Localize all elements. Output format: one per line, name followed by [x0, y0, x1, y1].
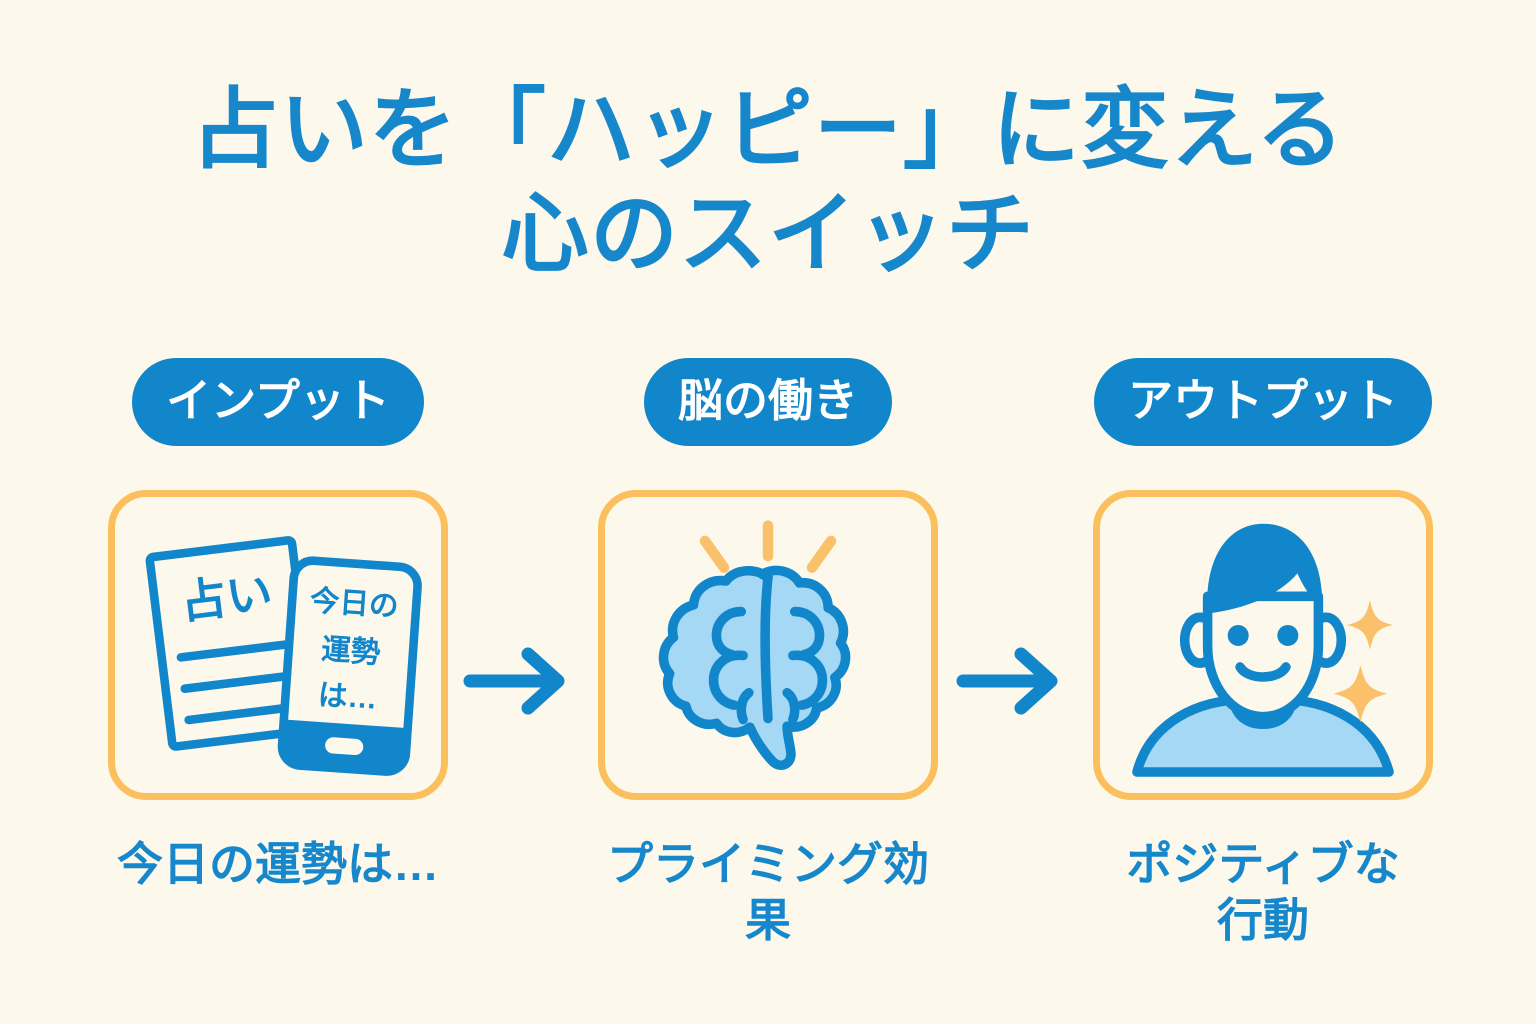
- badge-wrap-brain: 脳の働き: [598, 358, 938, 450]
- badge-brain: 脳の働き: [644, 358, 892, 446]
- smiling-person-with-sparkles-icon: [1100, 497, 1426, 793]
- brain-with-sparks-icon: [605, 497, 931, 793]
- arrow-right-icon: [462, 638, 574, 724]
- badge-wrap-input: インプット: [108, 358, 448, 450]
- caption-brain: プライミング効果: [598, 836, 938, 948]
- person-face: [1208, 596, 1319, 716]
- idea-sparks: [705, 526, 831, 568]
- fortune-paper-and-phone-icon: 占い 今日の 運勢 は…: [115, 497, 441, 793]
- icon-card-input: 占い 今日の 運勢 は…: [108, 490, 448, 800]
- arrow-input-to-brain: [462, 638, 574, 724]
- phone-text-line-1: 今日の: [309, 583, 400, 623]
- page-title-line-1: 占いを「ハッピー」に変える: [0, 78, 1536, 182]
- person-eye-left: [1228, 625, 1249, 646]
- process-flow: インプット 占い: [0, 358, 1536, 978]
- phone-text-line-3: は…: [317, 679, 378, 716]
- phone-text-line-2: 運勢: [320, 633, 382, 670]
- arrow-brain-to-output: [955, 638, 1067, 724]
- flow-step-output: アウトプット: [1093, 358, 1433, 948]
- brain-shape: [664, 570, 846, 765]
- person-eye-right: [1277, 625, 1298, 646]
- caption-input: 今日の運勢は…: [108, 836, 448, 892]
- badge-input: インプット: [132, 358, 424, 446]
- icon-card-output: [1093, 490, 1433, 800]
- page-title: 占いを「ハッピー」に変える 心のスイッチ: [0, 78, 1536, 286]
- spark-line-right: [812, 541, 831, 568]
- phone-home-button: [325, 737, 364, 756]
- icon-card-brain: [598, 490, 938, 800]
- caption-output: ポジティブな 行動: [1093, 836, 1433, 948]
- badge-wrap-output: アウトプット: [1093, 358, 1433, 450]
- sparkle-icon-upper: [1347, 600, 1393, 650]
- flow-step-input: インプット 占い: [108, 358, 448, 892]
- brain-central-fissure: [765, 577, 768, 718]
- arrow-right-icon: [955, 638, 1067, 724]
- flow-step-brain: 脳の働き: [598, 358, 938, 948]
- badge-output: アウトプット: [1094, 358, 1432, 446]
- page-title-line-2: 心のスイッチ: [0, 182, 1536, 286]
- spark-line-left: [705, 541, 724, 568]
